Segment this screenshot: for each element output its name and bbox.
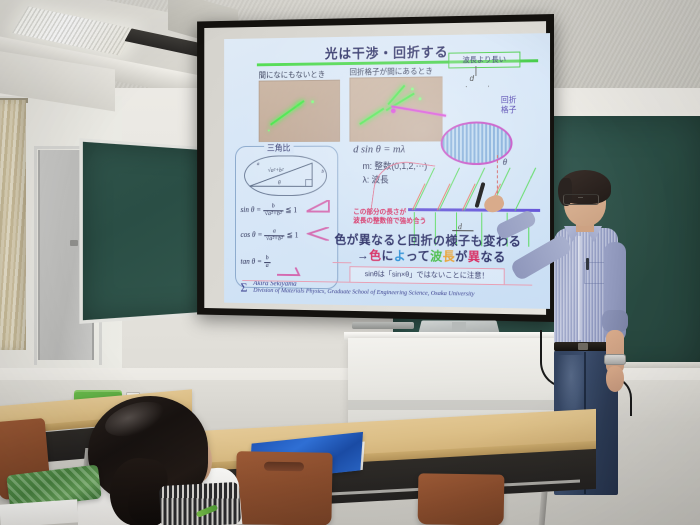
wristwatch-icon (604, 354, 626, 365)
sin-fraction: b √a²+b² (263, 204, 284, 218)
photo-with-grating (349, 76, 442, 141)
red-note-line2: 波長の整数倍で強め合う (353, 217, 426, 226)
door-plate (70, 240, 78, 246)
chair-right (418, 473, 505, 525)
curtain (0, 100, 26, 350)
conclusion-char-5: て (418, 249, 430, 263)
conclusion-char-10: な (480, 250, 493, 264)
trig-side-a-label: a (257, 161, 260, 167)
notebook-papers (0, 499, 79, 525)
lecture-hall-photo: 光は干渉・回折する 間になにもないとき 回折格子が間にあるとき (0, 0, 700, 525)
grating-pointer-line (475, 66, 476, 76)
svg-text:θ: θ (278, 180, 281, 186)
grating-zoom-funnel-icon (466, 86, 489, 100)
tan-label: tan θ = (240, 257, 261, 266)
conclusion-line-2: →色によって波長が異なる (357, 245, 506, 265)
left-photo-caption: 間になにもないとき (259, 69, 325, 80)
laser-dot-icon (311, 100, 314, 103)
trig-side-b-label: b (321, 169, 324, 175)
sigma-logo-icon: Σ (240, 280, 247, 295)
projector-screen-surface: 光は干渉・回折する 間になにもないとき 回折格子が間にあるとき (204, 21, 546, 315)
sin-denominator: √a²+b² (263, 211, 284, 218)
wavelength-note-text: 波長より長い (449, 53, 519, 67)
grating-label: 回折 格子 (501, 95, 517, 115)
eyeglasses-icon (563, 194, 599, 205)
trig-ratio-title: 三角比 (264, 142, 293, 154)
path-diff-marker-3 (462, 184, 476, 211)
grating-label-line2: 格子 (501, 105, 517, 115)
cos-label: cos θ = (240, 230, 262, 239)
grating-label-line1: 回折 (501, 95, 517, 105)
eyeglasses-bridge (578, 197, 583, 198)
laser-dot-order1-icon (419, 97, 422, 100)
cos-equation: cos θ = a √a²+b² ≦ 1 (240, 228, 298, 243)
sin-label: sin θ = (240, 205, 261, 214)
warning-text: sinθは「sin×θ」ではないことに注意！ (350, 267, 503, 283)
tan-denominator: a (264, 263, 271, 270)
pink-arrow-cos-icon (307, 227, 331, 241)
theta-angle-label: θ (503, 157, 507, 167)
d-symbol-label: d (470, 74, 474, 83)
credit-affiliation: Division of Materials Physics, Graduate … (253, 287, 474, 298)
lecturer-raised-forearm (495, 209, 538, 241)
left-chalkboard (79, 138, 216, 324)
striped-bag (159, 482, 241, 525)
sin-equation: sin θ = b √a²+b² ≦ 1 (240, 203, 297, 217)
conclusion-char-7: 長 (443, 250, 456, 264)
laser-dot-small-icon (268, 130, 270, 132)
diffracted-ray-2 (439, 168, 460, 211)
photo-no-grating (259, 80, 340, 142)
grating-point-icon (391, 108, 396, 113)
pen-in-pocket-icon (586, 258, 589, 270)
conclusion-char-4: っ (406, 249, 418, 263)
lecturer-lowered-hand (606, 366, 624, 392)
conclusion-char-3: よ (394, 249, 406, 263)
pink-arrow-sin-icon (307, 200, 331, 214)
warning-arrow (333, 262, 352, 263)
cos-comparison: ≦ 1 (287, 231, 299, 240)
path-diff-marker-2 (437, 184, 451, 211)
pink-arrow-tan-icon (277, 267, 301, 277)
main-equation: d sin θ = mλ (353, 144, 405, 156)
conclusion-char-6: 波 (430, 250, 443, 264)
conclusion-char-1: 色 (369, 249, 381, 263)
laser-arrowhead-icon (297, 100, 305, 107)
tan-fraction: b a (264, 255, 271, 269)
conclusion-char-2: に (381, 249, 393, 263)
belt-buckle-icon (578, 343, 588, 350)
conclusion-char-9: 異 (468, 250, 481, 264)
cos-denominator: √a²+b² (264, 236, 285, 243)
laser-dot-order2-icon (411, 88, 414, 91)
chair-center-handle (264, 462, 304, 472)
podium-device (352, 322, 414, 329)
lecturer-rolled-sleeve (602, 310, 628, 332)
wavelength-note-box: 波長より長い (448, 52, 520, 69)
lecturer-shirt-placket (578, 236, 581, 340)
svg-text:√a²+b²: √a²+b² (268, 167, 284, 174)
cos-fraction: a √a²+b² (264, 229, 285, 243)
tan-equation: tan θ = b a (240, 255, 270, 269)
conclusion-char-0: → (357, 249, 369, 263)
sin-comparison: ≦ 1 (285, 206, 297, 215)
laser-beam-incident-icon (359, 108, 384, 125)
conclusion-char-8: が (455, 250, 468, 264)
